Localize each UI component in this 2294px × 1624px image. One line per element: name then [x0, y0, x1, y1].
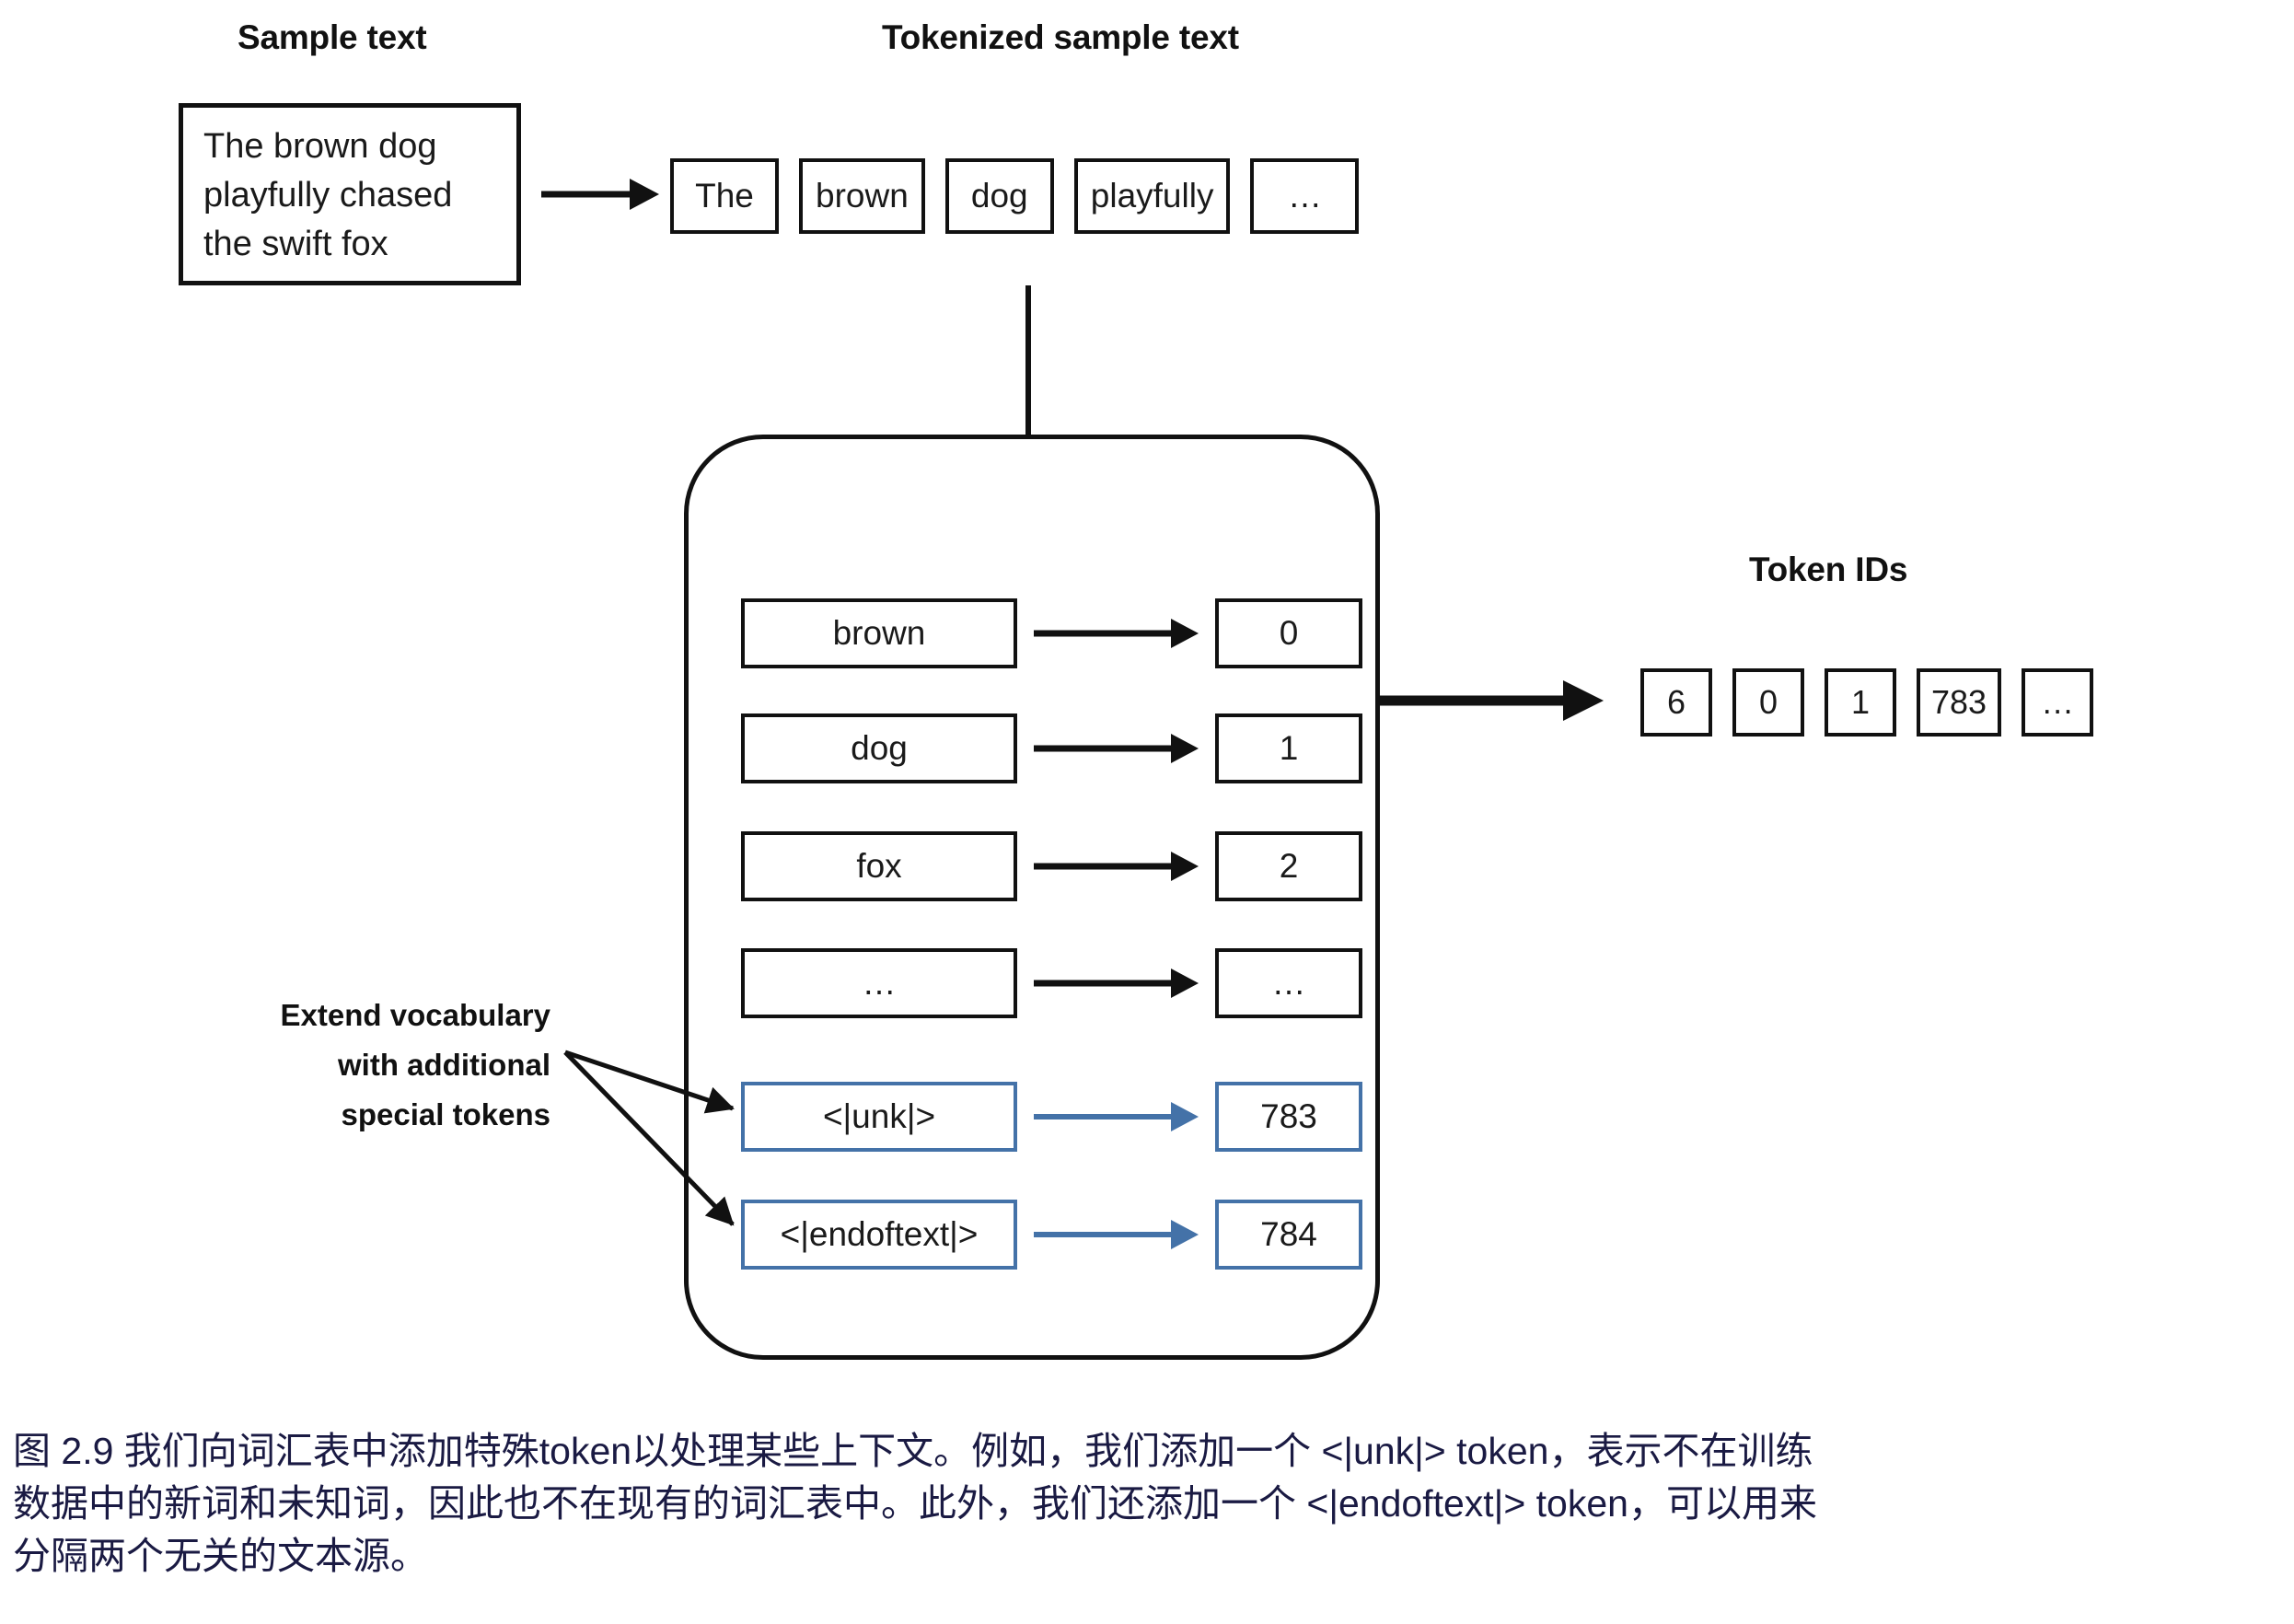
- sample-text-box: The brown dog playfully chased the swift…: [179, 103, 521, 285]
- vocabulary-row: … …: [741, 948, 1362, 1018]
- vocabulary-term: dog: [741, 713, 1017, 783]
- vocabulary-id-endoftext: 784: [1215, 1200, 1362, 1270]
- vocabulary-term: fox: [741, 831, 1017, 901]
- connector-line-tokens-to-vocabulary: [1025, 285, 1031, 440]
- token-box: dog: [945, 158, 1054, 234]
- vocabulary-term: …: [741, 948, 1017, 1018]
- extend-vocabulary-annotation: Extend vocabulary with additional specia…: [228, 991, 550, 1140]
- vocabulary-map-arrow-icon: [1017, 713, 1215, 783]
- vocabulary-term: brown: [741, 598, 1017, 668]
- vocabulary-id: 0: [1215, 598, 1362, 668]
- vocabulary-map-arrow-icon: [1017, 598, 1215, 668]
- sample-text-line-2: playfully chased: [203, 171, 507, 220]
- token-id-box: 1: [1825, 668, 1896, 737]
- vocabulary-id: 1: [1215, 713, 1362, 783]
- vocabulary-term-endoftext: <|endoftext|>: [741, 1200, 1017, 1270]
- vocabulary-row: brown 0: [741, 598, 1362, 668]
- extend-vocabulary-arrows-icon: [552, 1040, 773, 1261]
- vocabulary-map-arrow-icon: [1017, 1200, 1215, 1270]
- tokenized-token-row: The brown dog playfully …: [670, 158, 1359, 234]
- vocabulary-id: 2: [1215, 831, 1362, 901]
- vocabulary-map-arrow-icon: [1017, 948, 1215, 1018]
- extend-vocabulary-line-3: special tokens: [228, 1090, 550, 1140]
- arrow-sample-to-tokens-icon: [541, 180, 659, 208]
- arrow-vocabulary-to-token-ids-icon: [1375, 685, 1604, 716]
- sample-text-content: The brown dog playfully chased the swift…: [203, 122, 507, 269]
- token-box: playfully: [1074, 158, 1231, 234]
- caption-line-1: 图 2.9 我们向词汇表中添加特殊token以处理某些上下文。例如，我们添加一个…: [13, 1425, 2287, 1478]
- token-id-box: …: [2022, 668, 2093, 737]
- token-box: brown: [799, 158, 925, 234]
- vocabulary-map-arrow-icon: [1017, 1082, 1215, 1152]
- caption-line-2: 数据中的新词和未知词，因此也不在现有的词汇表中。此外，我们还添加一个 <|end…: [13, 1478, 2287, 1530]
- sample-text-line-3: the swift fox: [203, 220, 507, 269]
- token-id-box: 783: [1917, 668, 2001, 737]
- vocabulary-row-special: <|endoftext|> 784: [741, 1200, 1362, 1270]
- vocabulary-row: fox 2: [741, 831, 1362, 901]
- token-box: The: [670, 158, 779, 234]
- heading-sample-text: Sample text: [238, 18, 427, 57]
- vocabulary-id-unk: 783: [1215, 1082, 1362, 1152]
- token-id-box: 0: [1732, 668, 1804, 737]
- vocabulary-term-unk: <|unk|>: [741, 1082, 1017, 1152]
- vocabulary-row-special: <|unk|> 783: [741, 1082, 1362, 1152]
- token-ids-row: 6 0 1 783 …: [1640, 668, 2093, 737]
- vocabulary-row: dog 1: [741, 713, 1362, 783]
- token-id-box: 6: [1640, 668, 1712, 737]
- extend-vocabulary-line-2: with additional: [228, 1040, 550, 1090]
- figure-caption: 图 2.9 我们向词汇表中添加特殊token以处理某些上下文。例如，我们添加一个…: [13, 1425, 2287, 1583]
- caption-line-3: 分隔两个无关的文本源。: [13, 1530, 2287, 1583]
- sample-text-line-1: The brown dog: [203, 122, 507, 171]
- token-box: …: [1250, 158, 1359, 234]
- heading-tokenized-sample-text: Tokenized sample text: [882, 18, 1239, 57]
- vocabulary-map-arrow-icon: [1017, 831, 1215, 901]
- heading-token-ids: Token IDs: [1749, 551, 1907, 589]
- vocabulary-id: …: [1215, 948, 1362, 1018]
- extend-vocabulary-line-1: Extend vocabulary: [228, 991, 550, 1040]
